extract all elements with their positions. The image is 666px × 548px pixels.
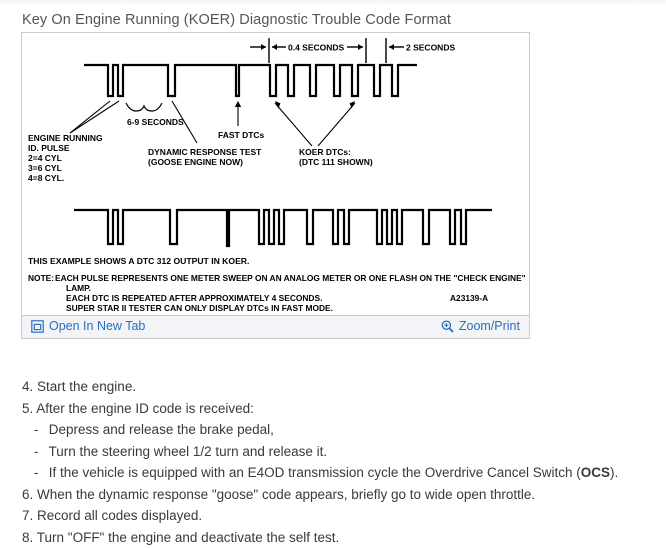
step-text: Depress and release the brake pedal, bbox=[45, 422, 274, 437]
procedure-substep: - If the vehicle is equipped with an E4O… bbox=[22, 462, 652, 484]
procedure-substep: - Turn the steering wheel 1/2 turn and r… bbox=[22, 441, 652, 463]
label-dynamic-response-line2: (GOOSE ENGINE NOW) bbox=[148, 157, 243, 167]
zoom-print-button[interactable]: Zoom/Print bbox=[441, 319, 520, 333]
note-line-3: EACH DTC IS REPEATED AFTER APPROXIMATELY… bbox=[66, 293, 322, 303]
bullet-dash: - bbox=[34, 419, 45, 441]
procedure-substep: - Depress and release the brake pedal, bbox=[22, 419, 652, 441]
label-dynamic-response-line1: DYNAMIC RESPONSE TEST bbox=[148, 147, 262, 157]
label-id-pulse-line3: 2=4 CYL bbox=[28, 153, 62, 163]
zoom-in-icon bbox=[441, 320, 454, 333]
label-slow-seconds: 2 SECONDS bbox=[406, 43, 455, 53]
note-example: THIS EXAMPLE SHOWS A DTC 312 OUTPUT IN K… bbox=[28, 256, 249, 266]
step-text: If the vehicle is equipped with an E4OD … bbox=[45, 465, 581, 480]
label-id-pulse-line1: ENGINE RUNNING bbox=[28, 133, 103, 143]
procedure-step: 8. Turn "OFF" the engine and deactivate … bbox=[22, 527, 652, 548]
procedure-step: 4. Start the engine. bbox=[22, 376, 652, 398]
step-text: 7. Record all codes displayed. bbox=[22, 508, 202, 523]
step-text: Turn the steering wheel 1/2 turn and rel… bbox=[45, 444, 327, 459]
procedure-step: 7. Record all codes displayed. bbox=[22, 505, 652, 527]
browser-top-strip bbox=[0, 0, 666, 6]
figure-id-label: A23139-A bbox=[450, 293, 488, 303]
label-koer-dtcs-line1: KOER DTCs: bbox=[299, 147, 351, 157]
figure-toolbar: Open In New Tab Zoom/Print bbox=[22, 315, 529, 338]
note-label: NOTE: bbox=[28, 273, 54, 283]
step-text-suffix: ). bbox=[610, 465, 618, 480]
label-id-pulse-line2: ID. PULSE bbox=[28, 143, 70, 153]
label-fast-seconds: 0.4 SECONDS bbox=[288, 43, 345, 53]
step-text: 4. Start the engine. bbox=[22, 379, 136, 394]
label-koer-dtcs-line2: (DTC 111 SHOWN) bbox=[299, 157, 373, 167]
new-tab-icon bbox=[31, 320, 44, 333]
label-id-pulse-line4: 3=6 CYL bbox=[28, 163, 62, 173]
zoom-print-label: Zoom/Print bbox=[459, 319, 520, 333]
page-title: Key On Engine Running (KOER) Diagnostic … bbox=[22, 12, 451, 28]
label-fast-dtcs: FAST DTCs bbox=[218, 130, 265, 140]
open-in-new-tab-button[interactable]: Open In New Tab bbox=[31, 319, 145, 333]
bullet-dash: - bbox=[34, 462, 45, 484]
step-text: 8. Turn "OFF" the engine and deactivate … bbox=[22, 530, 339, 545]
step-text: 5. After the engine ID code is received: bbox=[22, 401, 254, 416]
procedure-step: 5. After the engine ID code is received: bbox=[22, 398, 652, 420]
note-line-4: SUPER STAR II TESTER CAN ONLY DISPLAY DT… bbox=[66, 303, 333, 313]
step-text: 6. When the dynamic response "goose" cod… bbox=[22, 487, 535, 502]
note-line-1: EACH PULSE REPRESENTS ONE METER SWEEP ON… bbox=[55, 273, 526, 283]
bullet-dash: - bbox=[34, 441, 45, 463]
step-text-emphasis: OCS bbox=[581, 465, 610, 480]
note-line-2: LAMP. bbox=[66, 283, 91, 293]
procedure-step-list: 4. Start the engine.5. After the engine … bbox=[22, 376, 652, 548]
label-six-nine-seconds: 6-9 SECONDS bbox=[127, 117, 184, 127]
open-in-new-tab-label: Open In New Tab bbox=[49, 319, 145, 333]
koer-waveform-diagram: 0.4 SECONDS 2 SECONDS bbox=[22, 33, 529, 316]
procedure-step: 6. When the dynamic response "goose" cod… bbox=[22, 484, 652, 506]
figure-image: 0.4 SECONDS 2 SECONDS bbox=[22, 33, 529, 316]
figure-panel: 0.4 SECONDS 2 SECONDS bbox=[21, 32, 530, 339]
label-id-pulse-line5: 4=8 CYL. bbox=[28, 173, 64, 183]
